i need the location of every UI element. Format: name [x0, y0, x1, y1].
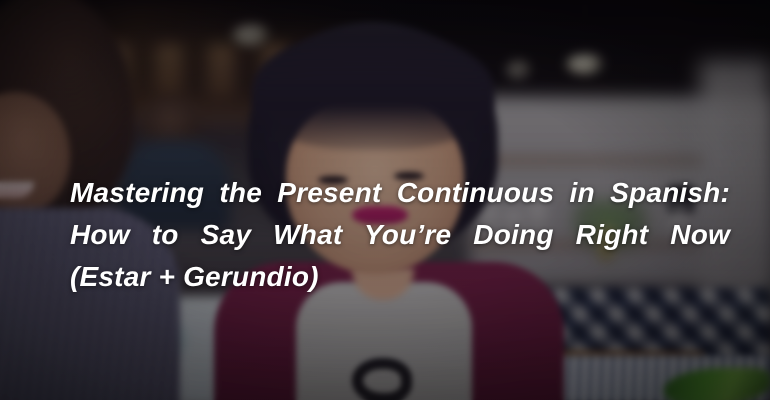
pendant-lamp — [566, 54, 606, 74]
hero-title-block: Mastering the Present Continuous in Span… — [70, 172, 730, 298]
pendant-lamp-cord — [584, 0, 586, 62]
woman-center-bangs — [252, 30, 494, 150]
page-title: Mastering the Present Continuous in Span… — [70, 172, 730, 298]
shelf-jar — [156, 44, 182, 96]
title-line-1: Mastering the Present Continuous in Span… — [70, 172, 730, 214]
title-line-2: How to Say What You’re Doing Right Now — [70, 214, 730, 256]
pendant-lamp — [506, 60, 532, 80]
title-line-3: (Estar + Gerundio) — [70, 256, 730, 298]
article-hero-banner: Mastering the Present Continuous in Span… — [0, 0, 770, 400]
shelf-jar — [208, 44, 234, 96]
shirt-graphic — [352, 358, 412, 400]
pendant-lamp — [232, 24, 272, 46]
shelf-rail — [472, 158, 702, 163]
